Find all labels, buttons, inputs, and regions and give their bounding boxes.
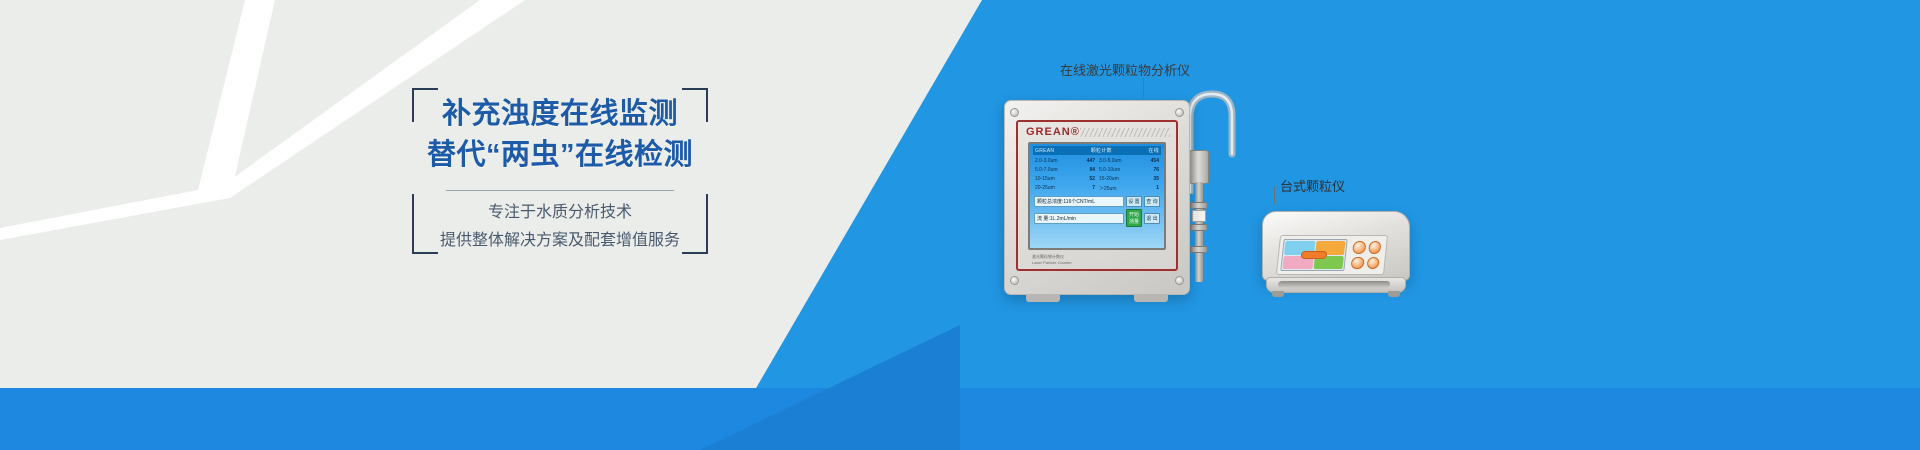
nameplate-en: Laser Particle Counter [1032, 260, 1072, 265]
sensor-housing [1189, 150, 1209, 184]
lcd-center-title: 颗粒计数 [1091, 147, 1112, 154]
query-button[interactable]: 查 询 [1144, 196, 1160, 207]
bin-range: 3.0-5.0um [1099, 158, 1147, 164]
flow-readout: 流 量:1L.2mL/min [1034, 213, 1124, 224]
particle-bin-table: 2.0-3.0um 447 3.0-5.0um 454 5.0-7.0um 94… [1033, 158, 1161, 192]
lcd-row-flow: 流 量:1L.2mL/min 开始测量 退 出 [1034, 209, 1160, 227]
bin-count: 454 [1151, 158, 1159, 164]
online-laser-particle-analyzer: GREAN® GREAN 颗粒计数 在线 2.0-3.0um 447 3.0-5… [1004, 100, 1190, 295]
leader-line-bench-counter [1274, 186, 1275, 204]
sensor-ring [1190, 246, 1208, 253]
lcd-status: 在线 [1148, 147, 1159, 154]
analyzer-foot-left [1026, 294, 1060, 302]
bin-count: 52 [1087, 176, 1095, 182]
screen-center-badge [1301, 251, 1328, 259]
bin-range: 15-20um [1099, 176, 1147, 182]
sensor-stem [1195, 182, 1203, 282]
lcd-brand: GREAN [1035, 148, 1054, 154]
bin-count: 35 [1151, 176, 1159, 182]
start-measure-button[interactable]: 开始测量 [1126, 209, 1142, 227]
bin-count: 94 [1087, 167, 1095, 173]
bench-leg-right [1388, 291, 1400, 297]
sensor-ring [1190, 202, 1208, 209]
subtitle-line-1: 专注于水质分析技术 [412, 200, 708, 226]
leader-line-online-analyzer [1143, 78, 1144, 98]
headline-block: 补充浊度在线监测 替代“两虫”在线检测 专注于水质分析技术 提供整体解决方案及配… [412, 88, 708, 254]
keypad-button[interactable] [1366, 257, 1380, 270]
analyzer-latch-bottom-right [1175, 276, 1184, 285]
page-title: 补充浊度在线监测 替代“两虫”在线检测 [412, 94, 708, 176]
nameplate: 激光颗粒物计数仪 Laser Particle Counter [1032, 254, 1072, 265]
bin-range: 5.0-10um [1099, 167, 1147, 173]
bin-range: 2.0-3.0um [1035, 158, 1083, 164]
bench-leg-left [1272, 291, 1284, 297]
analyzer-foot-right [1134, 294, 1168, 302]
keypad-button[interactable] [1368, 241, 1382, 254]
analyzer-lcd-screen[interactable]: GREAN 颗粒计数 在线 2.0-3.0um 447 3.0-5.0um 45… [1028, 142, 1166, 250]
keypad-button[interactable] [1351, 257, 1365, 270]
keypad-button[interactable] [1352, 241, 1366, 254]
lcd-row-concentration: 颗粒总浓度:116个CNT/mL 设 置 查 询 [1034, 196, 1160, 207]
sensor-label-window [1192, 210, 1206, 222]
bench-paper-slot [1278, 281, 1391, 288]
bench-particle-counter [1262, 205, 1410, 297]
bin-count: 76 [1151, 167, 1159, 173]
bin-count: 447 [1087, 158, 1095, 164]
lcd-control-rows: 颗粒总浓度:116个CNT/mL 设 置 查 询 流 量:1L.2mL/min … [1033, 196, 1161, 227]
settings-button[interactable]: 设 置 [1126, 196, 1142, 207]
blue-bottom-band [0, 388, 1920, 450]
sensor-ring [1190, 224, 1208, 231]
headline-line-2: 替代“两虫”在线检测 [412, 135, 708, 176]
analyzer-latch-top-left [1010, 108, 1019, 117]
bench-screen[interactable] [1280, 239, 1347, 271]
headline-divider [446, 190, 674, 191]
label-online-analyzer: 在线激光颗粒物分析仪 [1060, 60, 1190, 79]
concentration-readout: 颗粒总浓度:116个CNT/mL [1034, 196, 1124, 207]
bin-range: 5.0-7.0um [1035, 167, 1083, 173]
vent-hatch [1080, 128, 1170, 137]
brand-logo: GREAN® [1026, 126, 1080, 138]
subtitle-line-2: 提供整体解决方案及配套增值服务 [412, 228, 708, 254]
bin-range: 20-25um [1035, 185, 1083, 192]
analyzer-front-door: GREAN® GREAN 颗粒计数 在线 2.0-3.0um 447 3.0-5… [1016, 120, 1178, 271]
bench-legs [1272, 291, 1400, 297]
bin-count: 1 [1151, 185, 1159, 192]
bench-control-panel [1276, 235, 1388, 275]
bin-count: 7 [1087, 185, 1095, 192]
promo-banner: 补充浊度在线监测 替代“两虫”在线检测 专注于水质分析技术 提供整体解决方案及配… [0, 0, 1920, 450]
analyzer-latch-top-right [1175, 108, 1184, 117]
headline-line-1: 补充浊度在线监测 [412, 94, 708, 135]
bin-range: ＞25um [1099, 185, 1147, 192]
bin-range: 10-15um [1035, 176, 1083, 182]
bench-keypad[interactable] [1348, 239, 1383, 271]
analyzer-latch-bottom-left [1010, 276, 1019, 285]
lcd-title-bar: GREAN 颗粒计数 在线 [1033, 146, 1161, 155]
exit-button[interactable]: 退 出 [1144, 213, 1160, 224]
